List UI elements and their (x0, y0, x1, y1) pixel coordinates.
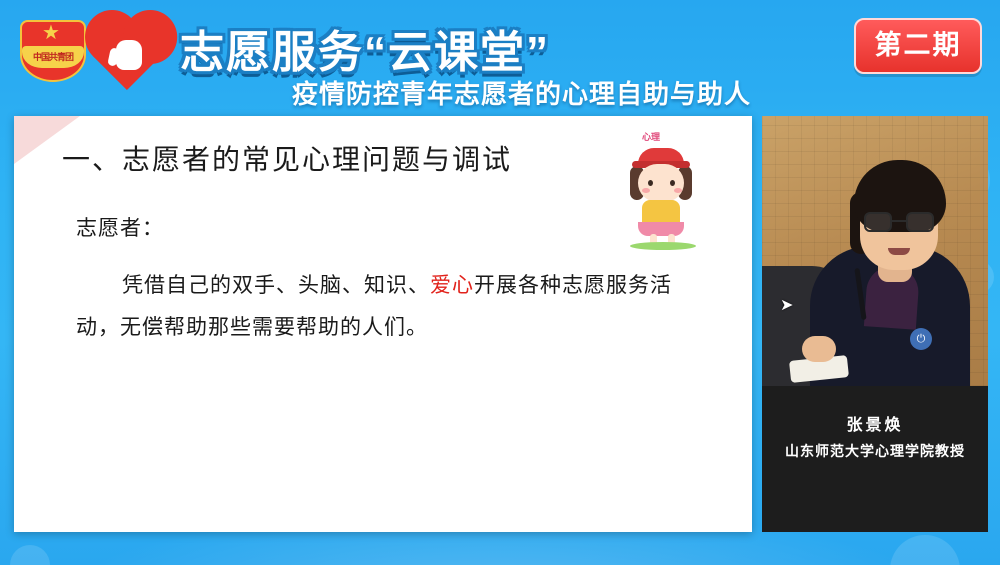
speaker-hand (802, 336, 836, 362)
video-feed[interactable]: ⏻ ➤ (762, 116, 988, 386)
speaker-video-panel[interactable]: ⏻ ➤ 张景焕 山东师范大学心理学院教授 (762, 116, 988, 532)
slide-body-part-1: 凭借自己的双手、头脑、知识、 (122, 273, 430, 297)
slide-heading: 一、志愿者的常见心理问题与调试 (62, 138, 512, 178)
power-badge-icon: ⏻ (910, 328, 932, 350)
glasses-lens-left (864, 212, 892, 232)
cartoon-label: 心理 (642, 130, 660, 143)
speaker-name: 张景焕 (762, 411, 988, 435)
cartoon-eye-left (648, 180, 653, 186)
cartoon-skirt (638, 222, 684, 236)
emblem-band: 中国共青团 (22, 46, 84, 68)
slide-body-text: 凭借自己的双手、头脑、知识、爱心开展各种志愿服务活动，无偿帮助那些需要帮助的人们… (76, 264, 696, 348)
cartoon-ground (630, 242, 696, 250)
speaker-mouth (888, 248, 910, 255)
emblem-band-label: 中国共青团 (22, 46, 84, 68)
communist-youth-league-emblem-icon: ★ 中国共青团 (16, 14, 92, 90)
page-title: 志愿服务“云课堂” (180, 16, 550, 80)
cartoon-cheek-right (674, 188, 682, 193)
episode-badge: 第二期 (854, 18, 982, 74)
volunteer-heart-hand-logo-icon (98, 20, 162, 84)
palm-shape (116, 40, 142, 70)
emblem-star: ★ (42, 23, 60, 43)
page-subtitle: 疫情防控青年志愿者的心理自助与助人 (292, 74, 751, 111)
broadcast-screen: ★ 中国共青团 志愿服务“云课堂” 疫情防控青年志愿者的心理自助与助人 第二期 … (0, 0, 1000, 565)
glasses-icon (864, 212, 934, 232)
slide-body-highlight: 爱心 (430, 273, 474, 297)
speaker-title: 山东师范大学心理学院教授 (762, 441, 988, 461)
slide-term-label: 志愿者： (76, 212, 164, 242)
glasses-lens-right (906, 212, 934, 232)
cartoon-girl-illustration: 心理 (608, 130, 718, 248)
glasses-bridge (892, 220, 906, 222)
presentation-slide[interactable]: 一、志愿者的常见心理问题与调试 志愿者： 凭借自己的双手、头脑、知识、爱心开展各… (14, 116, 752, 532)
cartoon-eye-right (670, 180, 675, 186)
program-header: ★ 中国共青团 志愿服务“云课堂” 疫情防控青年志愿者的心理自助与助人 第二期 (0, 0, 1000, 112)
mouse-cursor-icon: ➤ (780, 298, 794, 316)
episode-badge-label: 第二期 (854, 18, 982, 74)
cartoon-face (638, 164, 684, 202)
cartoon-cheek-left (642, 188, 650, 193)
